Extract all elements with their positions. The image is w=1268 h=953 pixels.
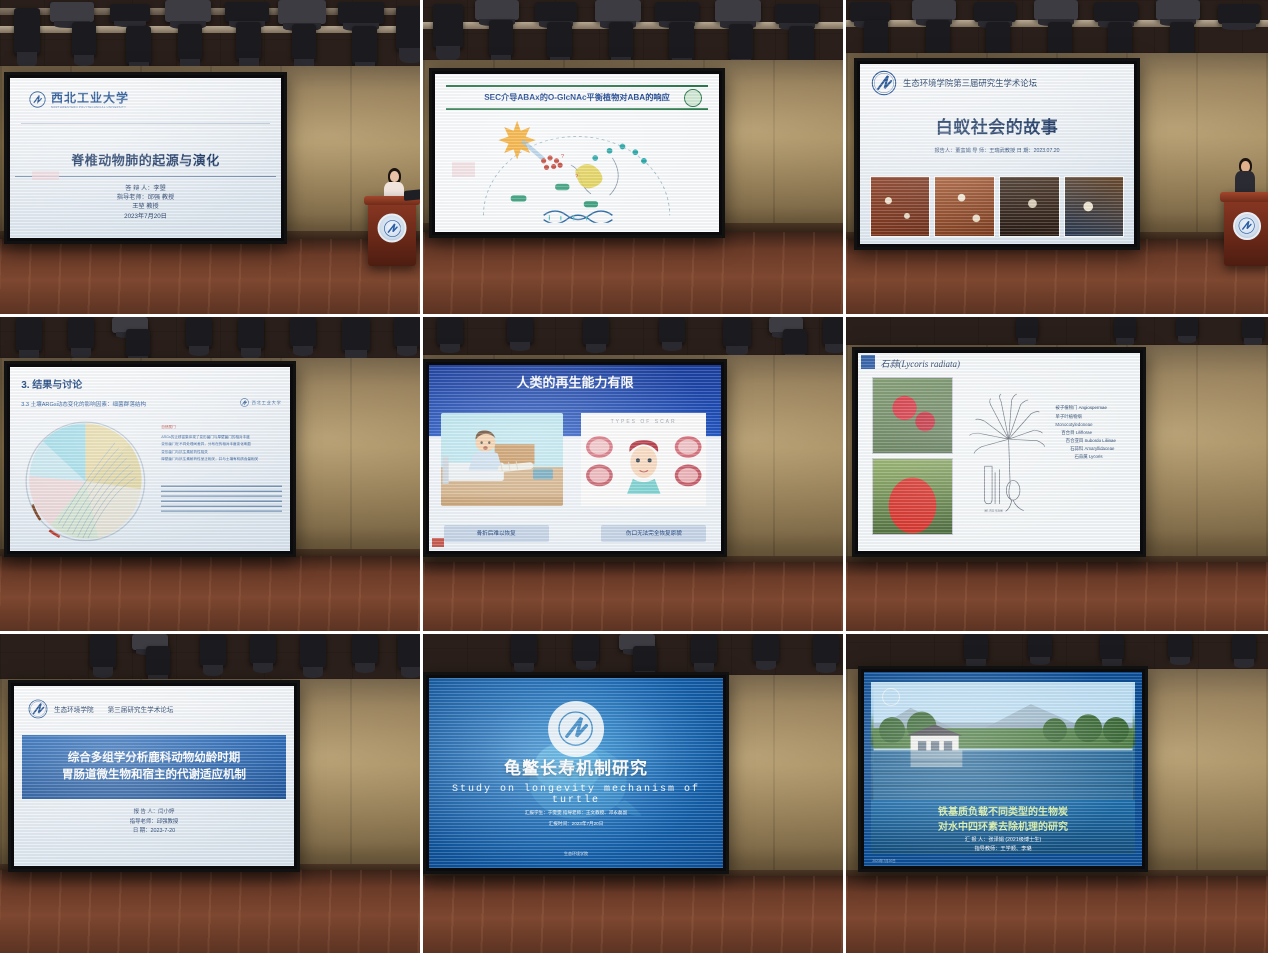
nwpu-mark-icon [240,398,249,407]
pathway-diagram: ? ? [463,115,690,222]
caption-left: 骨折后难以恢复 [444,525,549,542]
projection-screen: 石蒜(Lycoris radiata) [852,347,1146,557]
org-name-en: NORTHWESTERN POLYTECHNICAL UNIVERSITY [51,106,129,109]
caption-right: 伤口无法完全恢复原貌 [601,525,706,542]
forum-header: 生态环境学院第三届研究生学术论坛 [871,70,1037,96]
nwpu-seal-icon [882,688,900,706]
slide-title-line2: 胃肠道微生物和宿主的代谢适应机制 [62,767,246,784]
nwpu-seal-icon [28,699,48,719]
slide-title-bar: SEC介导ABAx的O-GlcNAc平衡植物对ABA的响应 [446,85,707,110]
panel-1: 西北工业大学 NORTHWESTERN POLYTECHNICAL UNIVER… [0,0,423,317]
forum-name: 第三届研究生学术论坛 [108,704,174,714]
nwpu-mark-icon [29,91,46,108]
projection-screen: 人类的再生能力有限 [423,359,727,557]
lighting-truss [0,0,420,63]
slide-1: 西北工业大学 NORTHWESTERN POLYTECHNICAL UNIVER… [10,78,281,238]
nwpu-logo-icon [1233,212,1261,240]
university-logo: 西北工业大学 [240,398,282,407]
panel-4: 3. 结果与讨论 3.3 土壤ARGs动态变化的影响因素：细菌群落结构 西北工业… [0,317,423,634]
nwpu-logo-icon [378,214,407,243]
nwpu-seal-icon [871,70,897,96]
slide-title: 脊椎动物肺的起源与演化 [10,150,281,169]
circos-chord-diagram [21,417,150,546]
college-name: 生态环境学院 [54,704,94,714]
slide-2: SEC介导ABAx的O-GlcNAc平衡植物对ABA的响应 [435,74,719,232]
svg-text:?: ? [561,154,564,160]
slide-5: 人类的再生能力有限 [429,365,721,551]
slide-meta-2: 指导教师：王学顺、李璐 [974,845,1031,852]
slide-title-line2: 对水中四环素去除机理的研究 [938,818,1068,833]
org-name: 西北工业大学 [51,89,129,106]
slide-title: SEC介导ABAx的O-GlcNAc平衡植物对ABA的响应 [484,91,670,103]
taxonomy-list: 被子植物门 Angiospermae 单子叶植物纲 Monocotyledone… [1055,404,1128,461]
slide-title-en: Study on longevity mechanism of turtle [429,784,723,806]
panel-5: 人类的再生能力有限 [423,317,846,634]
slide-6: 石蒜(Lycoris radiata) [858,353,1140,551]
photo-grid-collage: 西北工业大学 NORTHWESTERN POLYTECHNICAL UNIVER… [0,0,1268,953]
slide-meta: 报告人：董蛮娟 导 师：王瑞武教授 日 期：2023.07.20 [860,147,1134,154]
projection-screen: 3. 结果与讨论 3.3 土壤ARGs动态变化的影响因素：细菌群落结构 西北工业… [4,361,296,557]
university-logo: 西北工业大学 NORTHWESTERN POLYTECHNICAL UNIVER… [29,89,129,109]
projection-screen: 龟鳖长寿机制研究 Study on longevity mechanism of… [423,672,729,874]
slide-title: 白蚁社会的故事 [860,113,1134,138]
panel-7: 生态环境学院 第三届研究生学术论坛 综合多组学分析鹿科动物幼龄时期 胃肠道微生物… [0,634,423,953]
auditorium-scene: 西北工业大学 NORTHWESTERN POLYTECHNICAL UNIVER… [0,0,420,314]
slide-meta-1: 汇 报 人：张泽娟 (2021级博士生) [965,836,1041,843]
panel-8: 龟鳖长寿机制研究 Study on longevity mechanism of… [423,634,846,953]
panel-6: 石蒜(Lycoris radiata) [846,317,1268,634]
nwpu-seal-icon [548,701,604,757]
campus-lake-photo [871,682,1135,802]
termite-photo-strip [870,176,1125,237]
title-band: 综合多组学分析鹿科动物幼龄时期 胃肠道微生物和宿主的代谢适应机制 [22,735,285,800]
forum-header: 生态环境学院 第三届研究生学术论坛 [28,699,174,719]
stage-floor [0,239,420,314]
bullet-list: 自然属门 ARGs的迁移富集体现了变形菌门与厚壁菌门的相对丰度 变形菌门在不同处… [161,424,281,464]
panel-grid: 西北工业大学 NORTHWESTERN POLYTECHNICAL UNIVER… [0,0,1268,953]
slide-title: 龟鳖长寿机制研究 [429,754,723,779]
laptop [404,189,423,201]
projection-screen: SEC介导ABAx的O-GlcNAc平衡植物对ABA的响应 [429,68,725,238]
cartoon-patient-illustration [441,413,564,506]
podium [368,196,416,266]
photo-termites-4 [1064,176,1125,237]
projection-screen: 西北工业大学 NORTHWESTERN POLYTECHNICAL UNIVER… [4,72,287,244]
slide-footer: 生态环境学院 [429,851,723,857]
podium [1224,192,1268,266]
slide-8: 龟鳖长寿机制研究 Study on longevity mechanism of… [429,678,723,868]
slide-meta: 答 辩 人：李曌 指导老师：邱强 教授 王堃 教授 2023年7月20日 [10,184,281,222]
slide-9: 铁基质负载不同类型的生物炭 对水中四环素去除机理的研究 汇 报 人：张泽娟 (2… [864,672,1142,866]
forum-title: 生态环境学院第三届研究生学术论坛 [903,77,1037,89]
photo-lycoris-pot [872,458,953,535]
botanical-line-drawing: 图1 石蒜 形态图 [962,377,1052,531]
photo-termites-2 [934,176,995,237]
types-of-scar-illustration: TYPES OF SCAR [581,413,707,506]
photo-termites-3 [999,176,1060,237]
projection-screen: 生态环境学院 第三届研究生学术论坛 综合多组学分析鹿科动物幼龄时期 胃肠道微生物… [8,680,300,872]
slide-title-line1: 铁基质负载不同类型的生物炭 [938,803,1068,818]
slide-footer: 2023年7月20日 [872,858,895,863]
title-band: 铁基质负载不同类型的生物炭 对水中四环素去除机理的研究 汇 报 人：张泽娟 (2… [871,800,1135,854]
slide-4: 3. 结果与讨论 3.3 土壤ARGs动态变化的影响因素：细菌群落结构 西北工业… [10,367,290,551]
slide-meta: 汇报学生：于雯雯 指导老师：王文教授、邓永磊副 汇报时间：2023年7月20日 [429,807,723,829]
slide-title: 人类的再生能力有限 [429,372,721,391]
logo-icon [684,89,702,107]
panel-3: 生态环境学院第三届研究生学术论坛 白蚁社会的故事 报告人：董蛮娟 导 师：王瑞武… [846,0,1268,317]
photo-termites-1 [870,176,931,237]
panel-2: SEC介导ABAx的O-GlcNAc平衡植物对ABA的响应 [423,0,846,317]
slide-meta: 报 告 人：闫小婷 指导老师：邱强教授 日 期：2023-7-20 [14,808,294,836]
slide-title: 石蒜(Lycoris radiata) [881,357,960,370]
photo-spider-lily [872,377,953,454]
svg-text:图1 石蒜 形态图: 图1 石蒜 形态图 [985,508,1004,512]
svg-text:?: ? [576,174,579,180]
projection-screen: 铁基质负载不同类型的生物炭 对水中四环素去除机理的研究 汇 报 人：张泽娟 (2… [858,666,1148,872]
panel-9: 铁基质负载不同类型的生物炭 对水中四环素去除机理的研究 汇 报 人：张泽娟 (2… [846,634,1268,953]
slide-7: 生态环境学院 第三届研究生学术论坛 综合多组学分析鹿科动物幼龄时期 胃肠道微生物… [14,686,294,866]
slide-3: 生态环境学院第三届研究生学术论坛 白蚁社会的故事 报告人：董蛮娟 导 师：王瑞武… [860,64,1134,244]
scar-chart-label: TYPES OF SCAR [581,419,707,425]
subsection-title: 3.3 土壤ARGs动态变化的影响因素：细菌群落结构 [21,400,146,408]
section-title: 3. 结果与讨论 [21,376,82,391]
slide-title-line1: 综合多组学分析鹿科动物幼龄时期 [68,750,241,767]
projection-screen: 生态环境学院第三届研究生学术论坛 白蚁社会的故事 报告人：董蛮娟 导 师：王瑞武… [854,58,1140,250]
